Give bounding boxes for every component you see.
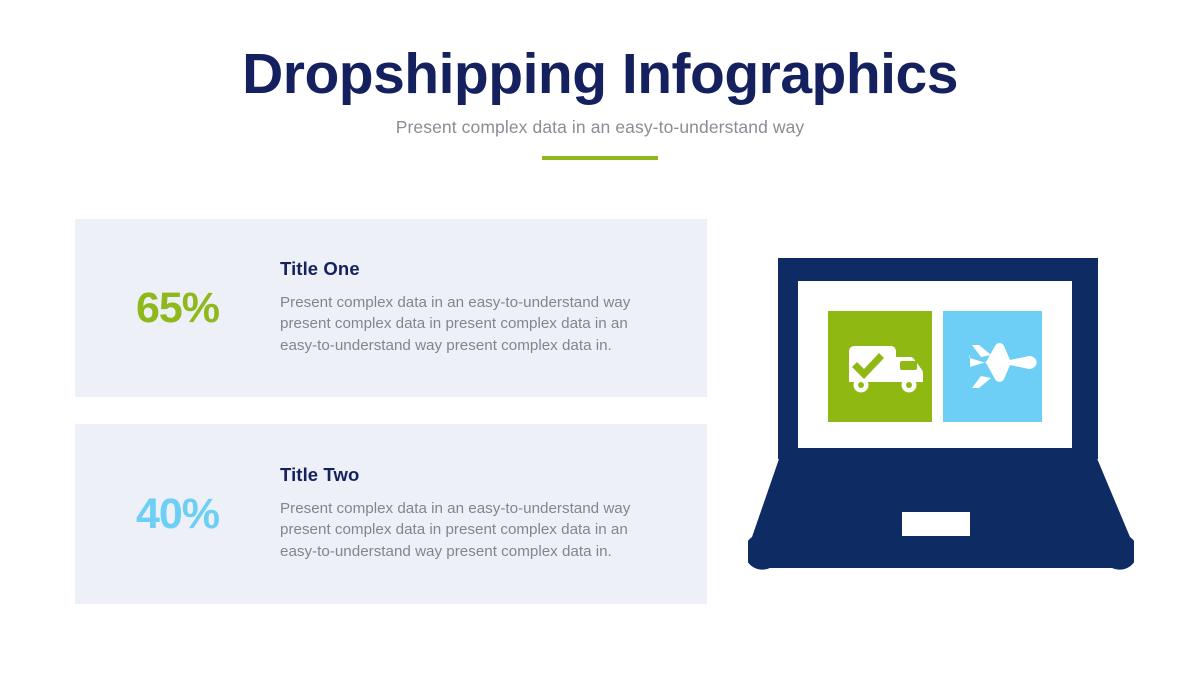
accent-divider: [542, 156, 658, 160]
stat-description-two: Present complex data in an easy-to-under…: [280, 498, 642, 563]
stat-card-one-body: Title One Present complex data in an eas…: [280, 259, 707, 356]
stat-card-one[interactable]: 65% Title One Present complex data in an…: [75, 219, 707, 397]
stat-percentage-two: 40%: [75, 493, 280, 536]
slide-header: Dropshipping Infographics Present comple…: [0, 44, 1200, 160]
page-subtitle: Present complex data in an easy-to-under…: [0, 117, 1200, 138]
slide-canvas: Dropshipping Infographics Present comple…: [0, 0, 1200, 675]
laptop-illustration: [748, 254, 1134, 572]
stat-percentage-one: 65%: [75, 287, 280, 330]
stat-card-list: 65% Title One Present complex data in an…: [75, 219, 707, 604]
page-title: Dropshipping Infographics: [0, 44, 1200, 106]
trackpad: [902, 512, 970, 536]
stat-card-two[interactable]: 40% Title Two Present complex data in an…: [75, 424, 707, 604]
stat-title-one: Title One: [280, 259, 689, 279]
stat-description-one: Present complex data in an easy-to-under…: [280, 292, 642, 357]
stat-card-two-body: Title Two Present complex data in an eas…: [280, 465, 707, 562]
stat-title-two: Title Two: [280, 465, 689, 485]
